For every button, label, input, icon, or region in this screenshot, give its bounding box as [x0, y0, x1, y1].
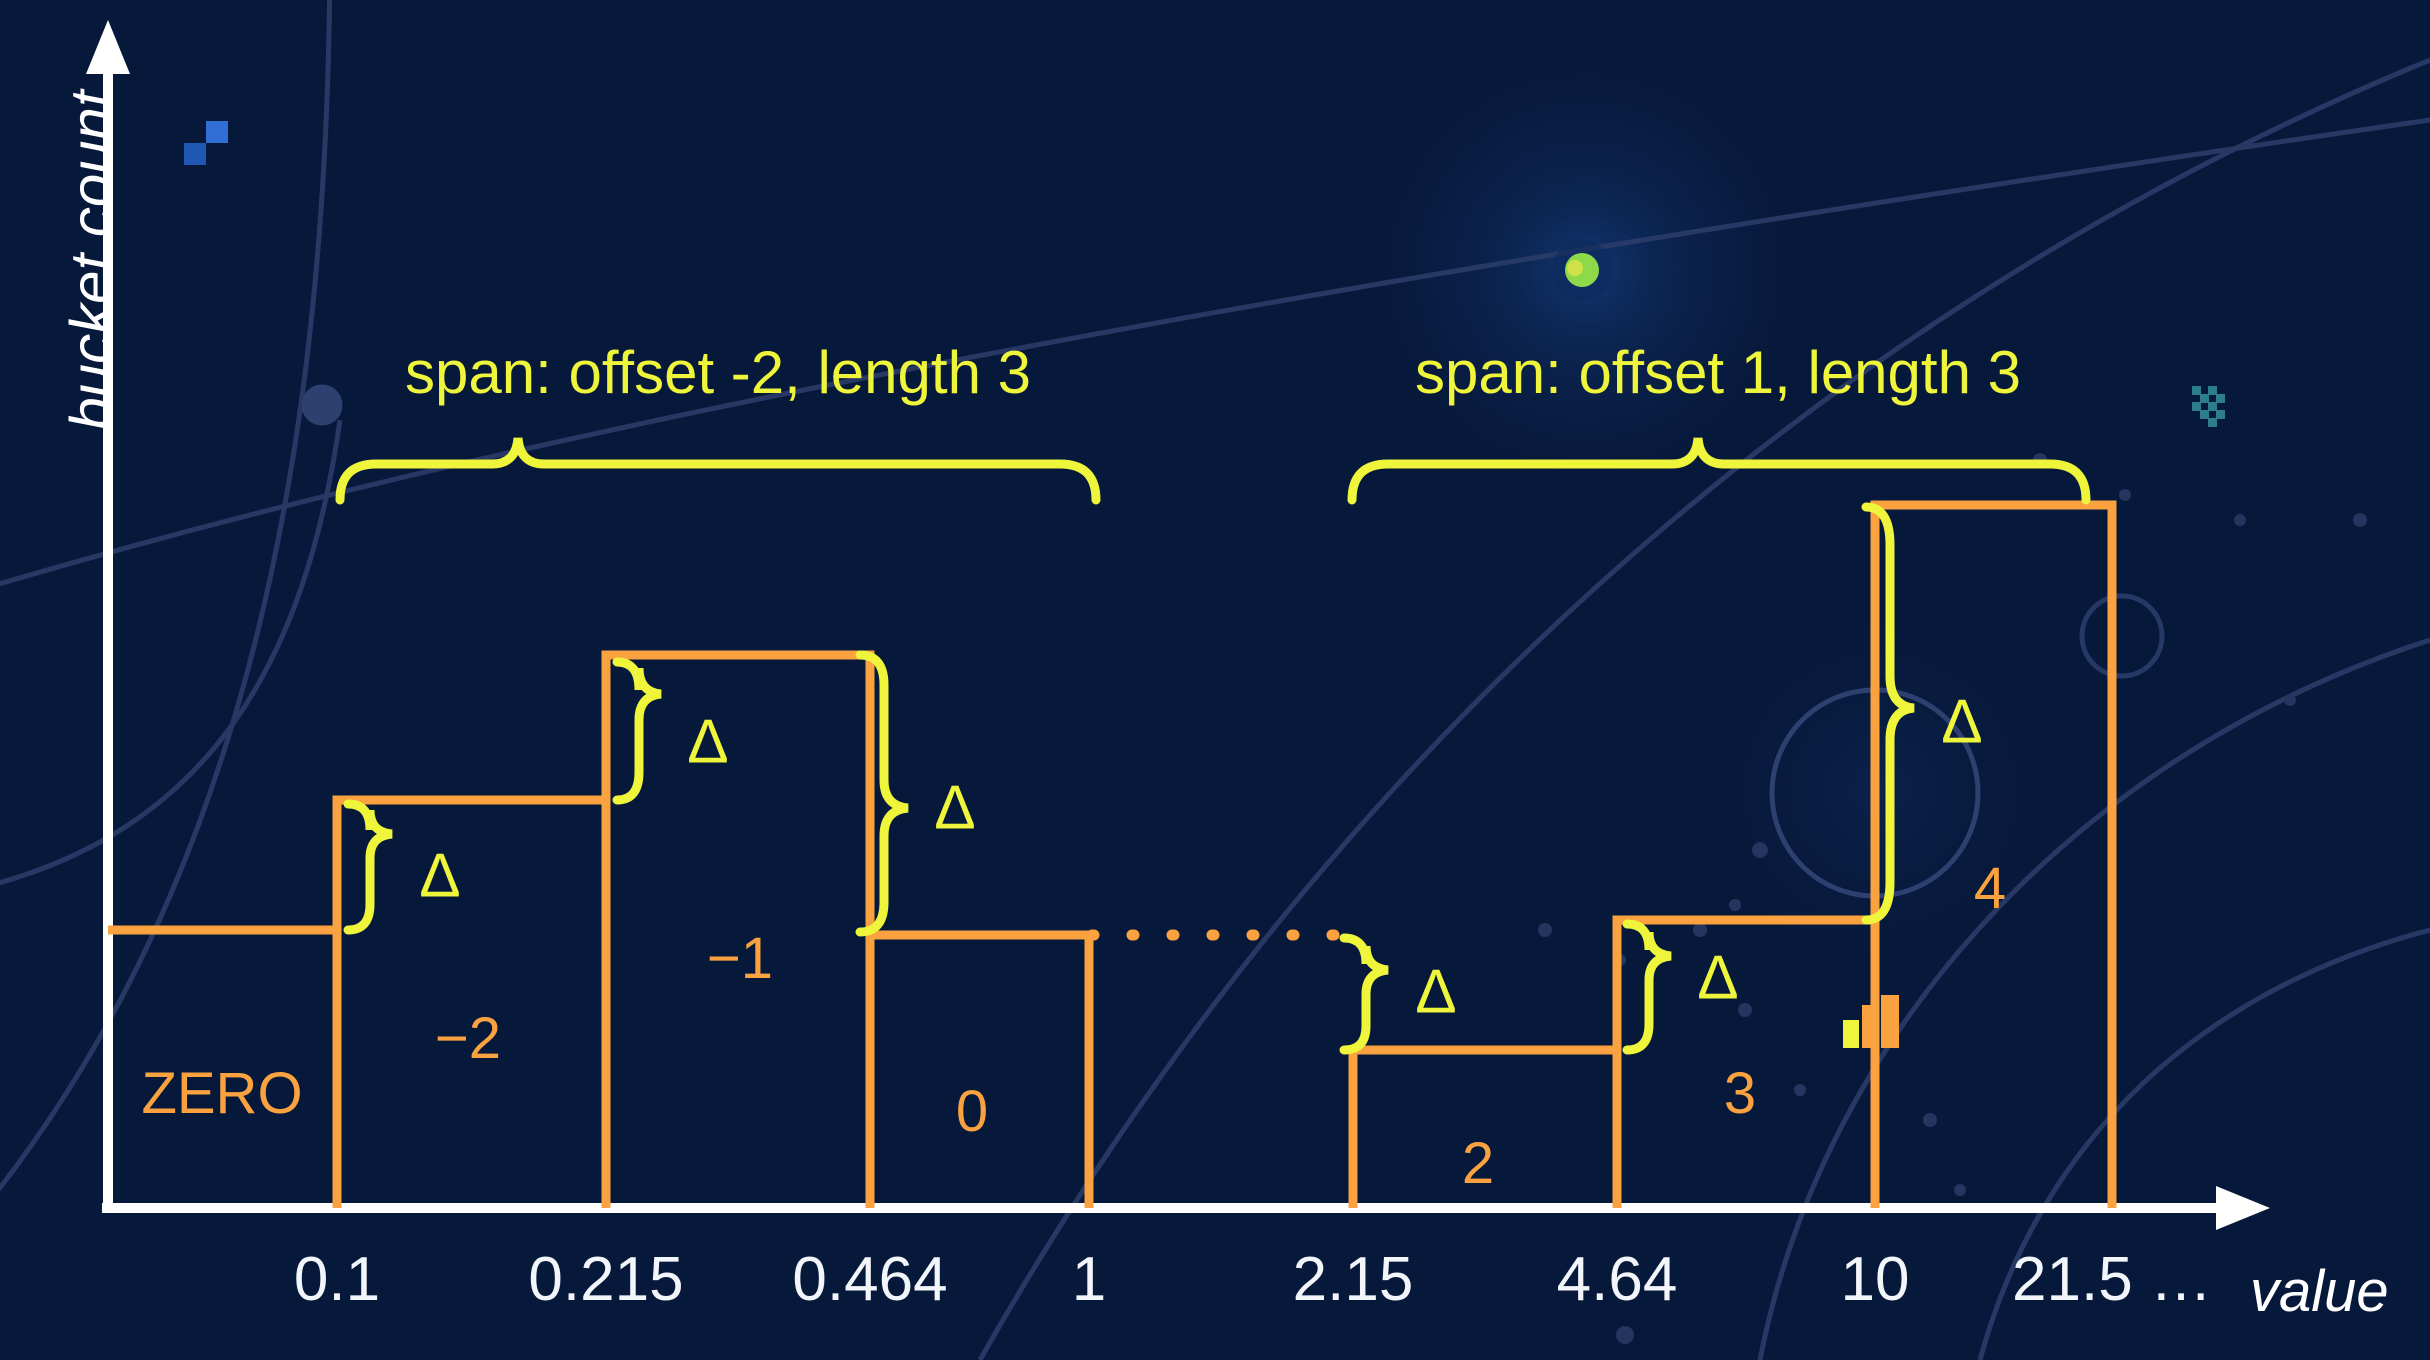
- histogram-diagram: bucket count value 0.1 0.215 0.464 1 2.1…: [0, 0, 2430, 1360]
- bar-label-minus2: −2: [435, 1005, 501, 1072]
- bar-label-three: 3: [1724, 1060, 1756, 1127]
- delta-symbol: Δ: [419, 841, 460, 912]
- bar-label-minus1: −1: [707, 925, 773, 992]
- x-tick-label: 4.64: [1557, 1244, 1678, 1315]
- x-axis-label: value: [2250, 1258, 2389, 1325]
- chart-text-layer: bucket count value 0.1 0.215 0.464 1 2.1…: [0, 0, 2430, 1360]
- delta-symbol: Δ: [687, 707, 728, 778]
- bar-label-zero-bucket: 0: [956, 1078, 988, 1145]
- bar-label-zero: ZERO: [141, 1060, 302, 1127]
- delta-symbol: Δ: [934, 773, 975, 844]
- x-tick-label: 2.15: [1293, 1244, 1414, 1315]
- x-tick-label: 10: [1841, 1244, 1910, 1315]
- bar-label-two: 2: [1462, 1130, 1494, 1197]
- delta-symbol: Δ: [1415, 957, 1456, 1028]
- span-label-left: span: offset -2, length 3: [405, 338, 1031, 407]
- y-axis-label: bucket count: [58, 51, 127, 471]
- bar-label-four: 4: [1974, 855, 2006, 922]
- x-tick-label: 0.1: [294, 1244, 380, 1315]
- span-label-right: span: offset 1, length 3: [1415, 338, 2021, 407]
- x-tick-label: 21.5 …: [2012, 1244, 2212, 1315]
- x-tick-label: 0.464: [792, 1244, 947, 1315]
- delta-symbol: Δ: [1941, 687, 1982, 758]
- delta-symbol: Δ: [1697, 943, 1738, 1014]
- x-tick-label: 0.215: [528, 1244, 683, 1315]
- x-tick-label: 1: [1072, 1244, 1106, 1315]
